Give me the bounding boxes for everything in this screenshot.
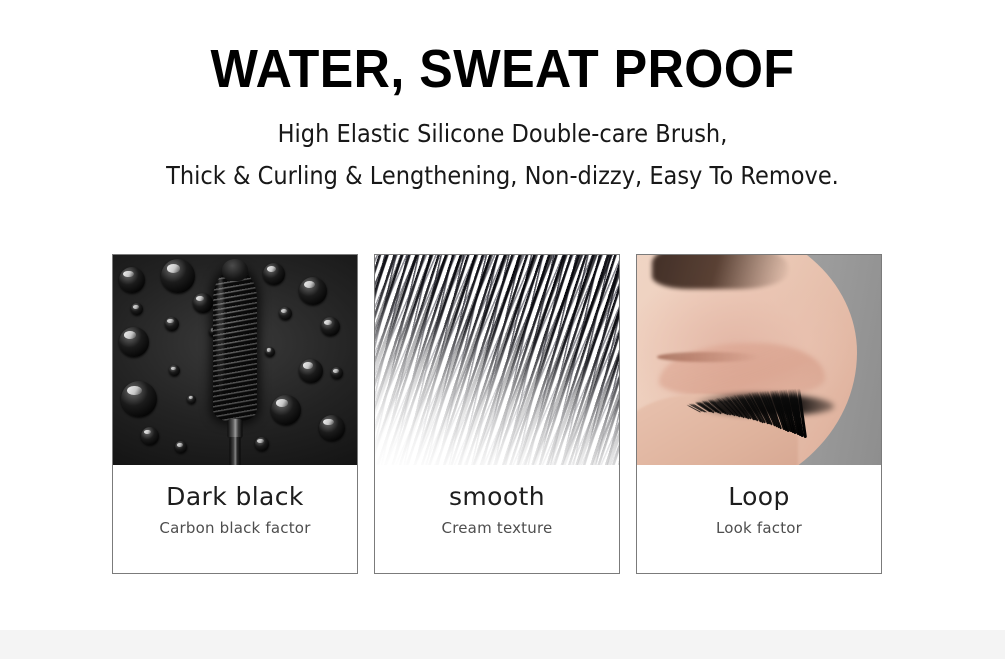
card-subtitle: Cream texture xyxy=(442,518,553,538)
card-title: Dark black xyxy=(166,482,304,512)
subtitle-line-2: Thick & Curling & Lengthening, Non-dizzy… xyxy=(50,161,955,191)
card-title: Loop xyxy=(728,482,790,512)
card-subtitle: Carbon black factor xyxy=(159,518,310,538)
card-subtitle: Look factor xyxy=(716,518,802,538)
promo-banner: WATER, SWEAT PROOF High Elastic Silicone… xyxy=(0,0,1005,659)
card-caption-dark-black: Dark black Carbon black factor xyxy=(113,465,357,573)
card-image-smooth xyxy=(375,255,619,465)
feature-card-dark-black[interactable]: Dark black Carbon black factor xyxy=(112,254,358,574)
brush-stroke-background xyxy=(375,255,619,465)
subtitle-line-1: High Elastic Silicone Double-care Brush, xyxy=(50,119,955,149)
card-image-loop xyxy=(637,255,881,465)
feature-card-list: Dark black Carbon black factor smooth Cr… xyxy=(112,254,882,574)
card-title: smooth xyxy=(449,482,545,512)
eyelash-cluster xyxy=(696,352,857,436)
page-title: WATER, SWEAT PROOF xyxy=(35,38,970,100)
card-caption-smooth: smooth Cream texture xyxy=(375,465,619,573)
feature-card-loop[interactable]: Loop Look factor xyxy=(636,254,882,574)
eye-lashes-background xyxy=(637,255,881,465)
card-image-dark-black xyxy=(113,255,357,465)
card-caption-loop: Loop Look factor xyxy=(637,465,881,573)
bottom-band xyxy=(0,630,1005,659)
mascara-wand xyxy=(203,269,267,465)
water-droplet-background xyxy=(113,255,357,465)
feature-card-smooth[interactable]: smooth Cream texture xyxy=(374,254,620,574)
